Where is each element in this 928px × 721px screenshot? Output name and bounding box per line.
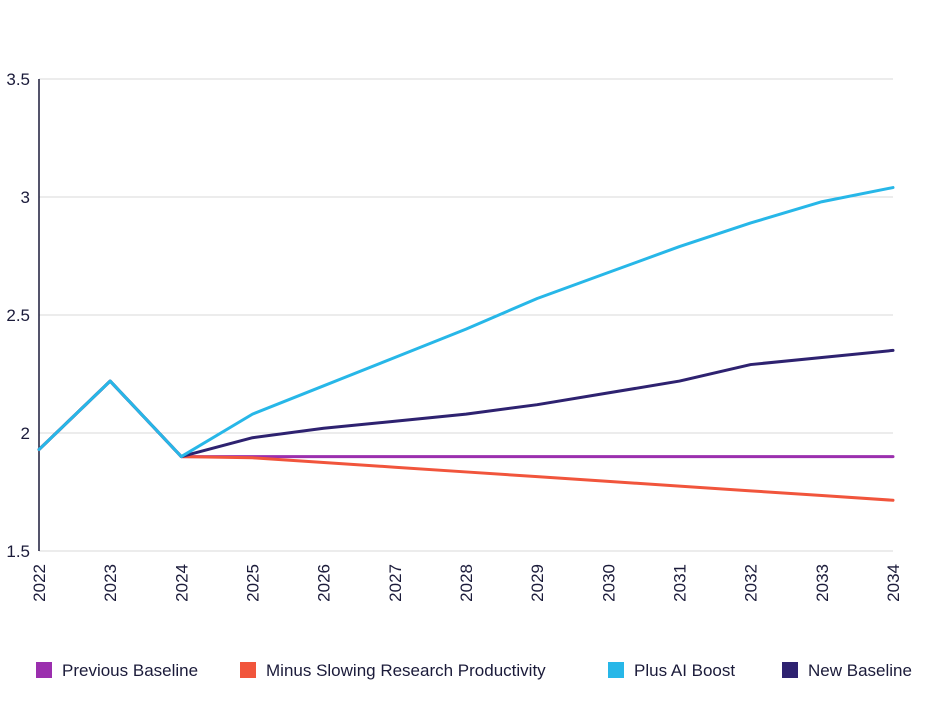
chart-canvas: 1.522.533.5 2022202320242025202620272028…	[0, 0, 928, 721]
x-tick-label: 2034	[884, 564, 903, 602]
y-tick-label: 1.5	[6, 542, 30, 561]
y-tick-label: 2.5	[6, 306, 30, 325]
x-tick-label: 2027	[386, 564, 405, 602]
legend-swatch	[608, 662, 624, 678]
x-tick-label: 2032	[742, 564, 761, 602]
legend-swatch	[36, 662, 52, 678]
x-tick-label: 2023	[101, 564, 120, 602]
x-tick-label: 2030	[599, 564, 618, 602]
legend-label: Previous Baseline	[62, 661, 198, 680]
x-tick-label: 2028	[457, 564, 476, 602]
x-tick-label: 2029	[528, 564, 547, 602]
line-chart: 1.522.533.5 2022202320242025202620272028…	[0, 0, 928, 721]
x-tick-label: 2025	[244, 564, 263, 602]
x-tick-label: 2033	[813, 564, 832, 602]
x-tick-label: 2022	[30, 564, 49, 602]
legend-label: New Baseline	[808, 661, 912, 680]
x-tick-label: 2024	[172, 564, 191, 602]
x-tick-label: 2026	[315, 564, 334, 602]
y-tick-label: 3.5	[6, 70, 30, 89]
legend-item[interactable]: Minus Slowing Research Productivity	[240, 661, 546, 680]
legend-label: Minus Slowing Research Productivity	[266, 661, 546, 680]
x-tick-label: 2031	[671, 564, 690, 602]
legend-swatch	[240, 662, 256, 678]
legend-swatch	[782, 662, 798, 678]
y-tick-label: 3	[21, 188, 30, 207]
y-tick-label: 2	[21, 424, 30, 443]
legend-label: Plus AI Boost	[634, 661, 735, 680]
